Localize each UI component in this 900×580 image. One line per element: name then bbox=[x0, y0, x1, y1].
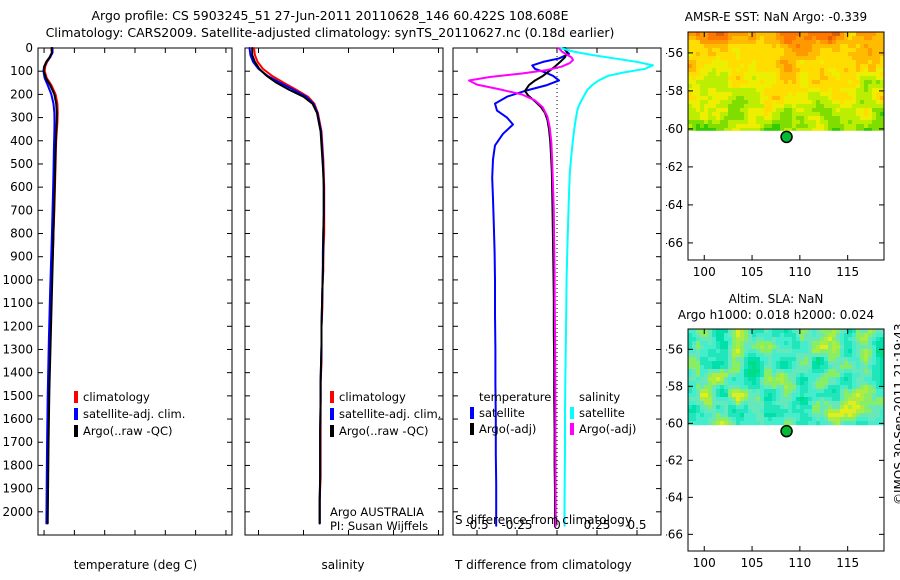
map-cell bbox=[712, 329, 716, 333]
map-cell bbox=[848, 401, 852, 405]
map-cell bbox=[832, 377, 836, 381]
map-cell bbox=[772, 365, 776, 369]
map-cell bbox=[696, 397, 700, 401]
map-cell bbox=[780, 60, 784, 64]
map-cell bbox=[868, 88, 872, 92]
map-cell bbox=[696, 104, 700, 108]
map-cell bbox=[716, 333, 720, 337]
map-cell bbox=[724, 337, 728, 341]
map-cell bbox=[796, 369, 800, 373]
tick-label: 1400 bbox=[2, 366, 33, 380]
map-cell bbox=[700, 68, 704, 72]
map-cell bbox=[848, 124, 852, 128]
map-cell bbox=[800, 385, 804, 389]
map-cell bbox=[732, 84, 736, 88]
map-cell bbox=[732, 104, 736, 108]
map-cell bbox=[736, 112, 740, 116]
map-cell bbox=[872, 357, 876, 361]
map-cell bbox=[880, 80, 884, 84]
map-cell bbox=[704, 40, 708, 44]
map-cell bbox=[820, 88, 824, 92]
map-cell bbox=[820, 341, 824, 345]
map-cell bbox=[808, 116, 812, 120]
map-cell bbox=[772, 413, 776, 417]
map-cell bbox=[860, 413, 864, 417]
map-cell bbox=[836, 401, 840, 405]
map-cell bbox=[872, 417, 876, 421]
map-cell bbox=[744, 100, 748, 104]
map-cell bbox=[824, 369, 828, 373]
map-cell bbox=[768, 393, 772, 397]
map-cell bbox=[712, 373, 716, 377]
map-cell bbox=[872, 68, 876, 72]
map-cell bbox=[748, 357, 752, 361]
map-cell bbox=[856, 120, 860, 124]
map-cell bbox=[800, 104, 804, 108]
map-cell bbox=[808, 349, 812, 353]
map-raster bbox=[688, 32, 884, 131]
map-cell bbox=[800, 64, 804, 68]
map-cell bbox=[808, 120, 812, 124]
map-cell bbox=[688, 397, 692, 401]
map-cell bbox=[752, 409, 756, 413]
map-cell bbox=[796, 365, 800, 369]
map-cell bbox=[856, 92, 860, 96]
map-cell bbox=[696, 36, 700, 40]
map-cell bbox=[820, 76, 824, 80]
map-cell bbox=[812, 128, 816, 131]
map-cell bbox=[796, 401, 800, 405]
map-cell bbox=[720, 349, 724, 353]
map-cell bbox=[860, 64, 864, 68]
map-cell bbox=[832, 32, 836, 36]
map-cell bbox=[868, 64, 872, 68]
tick-label: 1700 bbox=[2, 435, 33, 449]
map-cell bbox=[788, 68, 792, 72]
map-cell bbox=[824, 409, 828, 413]
map-cell bbox=[880, 120, 884, 124]
map-cell bbox=[712, 52, 716, 56]
map-cell bbox=[756, 373, 760, 377]
map-cell bbox=[860, 405, 864, 409]
map-cell bbox=[760, 80, 764, 84]
map-cell bbox=[704, 92, 708, 96]
map-cell bbox=[740, 349, 744, 353]
map-cell bbox=[744, 36, 748, 40]
map-cell bbox=[728, 92, 732, 96]
map-cell bbox=[844, 104, 848, 108]
map-cell bbox=[744, 56, 748, 60]
map-cell bbox=[764, 52, 768, 56]
map-cell bbox=[772, 401, 776, 405]
map-cell bbox=[832, 116, 836, 120]
map-cell bbox=[784, 357, 788, 361]
map-cell bbox=[752, 421, 756, 425]
map-cell bbox=[748, 116, 752, 120]
map-cell bbox=[708, 345, 712, 349]
map-cell bbox=[812, 68, 816, 72]
map-cell bbox=[796, 56, 800, 60]
map-cell bbox=[792, 128, 796, 131]
map-cell bbox=[728, 80, 732, 84]
map-cell bbox=[836, 337, 840, 341]
map-cell bbox=[700, 385, 704, 389]
map-cell bbox=[864, 349, 868, 353]
map-cell bbox=[788, 36, 792, 40]
map-cell bbox=[828, 80, 832, 84]
map-cell bbox=[876, 92, 880, 96]
map-cell bbox=[700, 401, 704, 405]
map-cell bbox=[880, 44, 884, 48]
map-cell bbox=[816, 64, 820, 68]
map-cell bbox=[748, 112, 752, 116]
map-cell bbox=[752, 56, 756, 60]
map-cell bbox=[868, 84, 872, 88]
map-cell bbox=[772, 52, 776, 56]
map-cell bbox=[840, 108, 844, 112]
map-cell bbox=[788, 337, 792, 341]
map-cell bbox=[876, 120, 880, 124]
map-cell bbox=[732, 397, 736, 401]
map-cell bbox=[868, 116, 872, 120]
map-cell bbox=[792, 345, 796, 349]
map-cell bbox=[836, 357, 840, 361]
map-cell bbox=[832, 413, 836, 417]
map-cell bbox=[748, 397, 752, 401]
map-cell bbox=[840, 397, 844, 401]
map-cell bbox=[756, 120, 760, 124]
map-cell bbox=[876, 56, 880, 60]
map-cell bbox=[808, 357, 812, 361]
map-cell bbox=[692, 124, 696, 128]
map-cell bbox=[820, 413, 824, 417]
map-cell bbox=[736, 349, 740, 353]
map-cell bbox=[844, 64, 848, 68]
map-cell bbox=[704, 72, 708, 76]
map-cell bbox=[716, 381, 720, 385]
map-cell bbox=[852, 76, 856, 80]
map-cell bbox=[712, 389, 716, 393]
map-cell bbox=[860, 385, 864, 389]
map-cell bbox=[832, 112, 836, 116]
map-cell bbox=[712, 413, 716, 417]
map-cell bbox=[804, 88, 808, 92]
map-cell bbox=[748, 120, 752, 124]
map-cell bbox=[848, 32, 852, 36]
map-cell bbox=[700, 337, 704, 341]
map-cell bbox=[708, 373, 712, 377]
map-cell bbox=[820, 68, 824, 72]
map-cell bbox=[708, 337, 712, 341]
map-cell bbox=[744, 44, 748, 48]
map-cell bbox=[712, 100, 716, 104]
map-cell bbox=[716, 96, 720, 100]
map-cell bbox=[732, 56, 736, 60]
map-cell bbox=[800, 76, 804, 80]
map-cell bbox=[840, 405, 844, 409]
map-cell bbox=[880, 56, 884, 60]
map-cell bbox=[768, 108, 772, 112]
map-cell bbox=[796, 60, 800, 64]
map-cell bbox=[712, 417, 716, 421]
map-cell bbox=[708, 80, 712, 84]
map-cell bbox=[760, 56, 764, 60]
map-cell bbox=[732, 381, 736, 385]
map-cell bbox=[820, 345, 824, 349]
map-cell bbox=[852, 64, 856, 68]
map-cell bbox=[772, 341, 776, 345]
map-cell bbox=[800, 417, 804, 421]
map-cell bbox=[756, 52, 760, 56]
map-cell bbox=[708, 112, 712, 116]
map-cell bbox=[824, 401, 828, 405]
map-cell bbox=[740, 72, 744, 76]
map-cell bbox=[864, 353, 868, 357]
map-cell bbox=[816, 417, 820, 421]
map-cell bbox=[740, 397, 744, 401]
map-cell bbox=[716, 52, 720, 56]
map-cell bbox=[880, 108, 884, 112]
map-cell bbox=[720, 421, 724, 425]
map-cell bbox=[748, 80, 752, 84]
map-cell bbox=[864, 365, 868, 369]
map-cell bbox=[868, 36, 872, 40]
legend-item-argo-raw: Argo(..raw -QC) bbox=[74, 424, 185, 438]
map-cell bbox=[704, 381, 708, 385]
map-cell bbox=[848, 329, 852, 333]
map-cell bbox=[796, 76, 800, 80]
map-cell bbox=[828, 401, 832, 405]
map-cell bbox=[712, 40, 716, 44]
map-cell bbox=[836, 64, 840, 68]
map-cell bbox=[700, 96, 704, 100]
map-cell bbox=[760, 104, 764, 108]
map-cell bbox=[800, 124, 804, 128]
map-cell bbox=[776, 88, 780, 92]
map-cell bbox=[700, 369, 704, 373]
map-cell bbox=[832, 64, 836, 68]
map-cell bbox=[816, 36, 820, 40]
legend-item-climatology: climatology bbox=[74, 390, 185, 404]
map-cell bbox=[836, 44, 840, 48]
map-cell bbox=[816, 393, 820, 397]
map-cell bbox=[740, 80, 744, 84]
map-cell bbox=[844, 48, 848, 52]
map-cell bbox=[716, 353, 720, 357]
map-cell bbox=[736, 353, 740, 357]
map-cell bbox=[860, 337, 864, 341]
map-cell bbox=[864, 84, 868, 88]
map-cell bbox=[832, 92, 836, 96]
map-cell bbox=[836, 88, 840, 92]
map-cell bbox=[864, 96, 868, 100]
map-cell bbox=[820, 333, 824, 337]
map-cell bbox=[724, 84, 728, 88]
map-cell bbox=[716, 393, 720, 397]
map-cell bbox=[700, 76, 704, 80]
map-cell bbox=[744, 64, 748, 68]
map-cell bbox=[856, 421, 860, 425]
map-cell bbox=[780, 357, 784, 361]
tick-label: 110 bbox=[788, 556, 811, 570]
map-cell bbox=[716, 329, 720, 333]
map-cell bbox=[776, 36, 780, 40]
map-cell bbox=[760, 32, 764, 36]
map-cell bbox=[796, 84, 800, 88]
map-cell bbox=[784, 60, 788, 64]
map-cell bbox=[872, 349, 876, 353]
map-cell bbox=[812, 401, 816, 405]
map-cell bbox=[696, 333, 700, 337]
map-cell bbox=[756, 349, 760, 353]
map-cell bbox=[756, 385, 760, 389]
map-cell bbox=[748, 64, 752, 68]
map-cell bbox=[840, 333, 844, 337]
map-cell bbox=[760, 385, 764, 389]
map-cell bbox=[844, 60, 848, 64]
map-cell bbox=[748, 68, 752, 72]
map-cell bbox=[872, 345, 876, 349]
map-cell bbox=[808, 48, 812, 52]
legend-swatch-temp-satellite bbox=[470, 407, 474, 419]
map-cell bbox=[872, 56, 876, 60]
map-cell bbox=[796, 357, 800, 361]
map-cell bbox=[820, 377, 824, 381]
map-cell bbox=[848, 385, 852, 389]
map-cell bbox=[732, 405, 736, 409]
map-cell bbox=[860, 329, 864, 333]
map-cell bbox=[800, 373, 804, 377]
map-cell bbox=[852, 421, 856, 425]
map-cell bbox=[720, 56, 724, 60]
map-cell bbox=[816, 401, 820, 405]
map-cell bbox=[724, 112, 728, 116]
map-cell bbox=[788, 397, 792, 401]
map-cell bbox=[792, 116, 796, 120]
map-cell bbox=[852, 88, 856, 92]
map-cell bbox=[764, 345, 768, 349]
map-cell bbox=[864, 36, 868, 40]
map-cell bbox=[864, 401, 868, 405]
map-cell bbox=[836, 365, 840, 369]
map-cell bbox=[768, 44, 772, 48]
map-cell bbox=[748, 385, 752, 389]
map-cell bbox=[700, 60, 704, 64]
map-cell bbox=[840, 369, 844, 373]
map-cell bbox=[776, 76, 780, 80]
map-cell bbox=[732, 96, 736, 100]
map-cell bbox=[772, 393, 776, 397]
map-cell bbox=[824, 353, 828, 357]
map-cell bbox=[820, 64, 824, 68]
map-cell bbox=[816, 365, 820, 369]
map-cell bbox=[792, 120, 796, 124]
map-cell bbox=[688, 373, 692, 377]
map-cell bbox=[848, 116, 852, 120]
map-cell bbox=[728, 72, 732, 76]
map-cell bbox=[724, 421, 728, 425]
map-cell bbox=[716, 365, 720, 369]
map-cell bbox=[692, 345, 696, 349]
map-cell bbox=[748, 56, 752, 60]
map-cell bbox=[852, 56, 856, 60]
map-cell bbox=[808, 124, 812, 128]
map-cell bbox=[748, 84, 752, 88]
map-cell bbox=[744, 393, 748, 397]
map-cell bbox=[740, 385, 744, 389]
attribution-line2: PI: Susan Wijffels bbox=[330, 519, 428, 533]
map-cell bbox=[788, 353, 792, 357]
map-cell bbox=[700, 36, 704, 40]
map-cell bbox=[820, 80, 824, 84]
map-cell bbox=[872, 401, 876, 405]
map-cell bbox=[708, 60, 712, 64]
map-cell bbox=[764, 373, 768, 377]
map-cell bbox=[740, 64, 744, 68]
map-cell bbox=[804, 92, 808, 96]
map-cell bbox=[864, 56, 868, 60]
map-cell bbox=[744, 40, 748, 44]
map-cell bbox=[780, 64, 784, 68]
map-cell bbox=[840, 329, 844, 333]
map-cell bbox=[688, 76, 692, 80]
map-cell bbox=[748, 124, 752, 128]
map-cell bbox=[832, 104, 836, 108]
map-cell bbox=[736, 44, 740, 48]
map-cell bbox=[840, 124, 844, 128]
map-cell bbox=[776, 389, 780, 393]
map-cell bbox=[772, 357, 776, 361]
map-cell bbox=[824, 128, 828, 131]
map-cell bbox=[764, 365, 768, 369]
map-cell bbox=[760, 349, 764, 353]
map-cell bbox=[692, 92, 696, 96]
map-cell bbox=[828, 32, 832, 36]
map-cell bbox=[688, 401, 692, 405]
map-cell bbox=[704, 76, 708, 80]
map-cell bbox=[788, 124, 792, 128]
map-cell bbox=[828, 96, 832, 100]
map-cell bbox=[820, 116, 824, 120]
map-cell bbox=[864, 44, 868, 48]
map-cell bbox=[740, 112, 744, 116]
map-cell bbox=[852, 100, 856, 104]
map-cell bbox=[696, 393, 700, 397]
map-cell bbox=[864, 112, 868, 116]
map-cell bbox=[852, 52, 856, 56]
map-cell bbox=[736, 401, 740, 405]
map-cell bbox=[800, 329, 804, 333]
map-cell bbox=[808, 92, 812, 96]
map-cell bbox=[756, 417, 760, 421]
map-cell bbox=[780, 385, 784, 389]
map-cell bbox=[772, 124, 776, 128]
map-cell bbox=[804, 112, 808, 116]
map-cell bbox=[832, 349, 836, 353]
map-cell bbox=[760, 357, 764, 361]
map-cell bbox=[804, 96, 808, 100]
map-cell bbox=[784, 104, 788, 108]
map-cell bbox=[688, 333, 692, 337]
map-cell bbox=[700, 112, 704, 116]
map-cell bbox=[756, 397, 760, 401]
map-cell bbox=[812, 40, 816, 44]
map-cell bbox=[776, 84, 780, 88]
map-cell bbox=[812, 417, 816, 421]
map-cell bbox=[880, 385, 884, 389]
map-cell bbox=[792, 100, 796, 104]
map-cell bbox=[880, 381, 884, 385]
